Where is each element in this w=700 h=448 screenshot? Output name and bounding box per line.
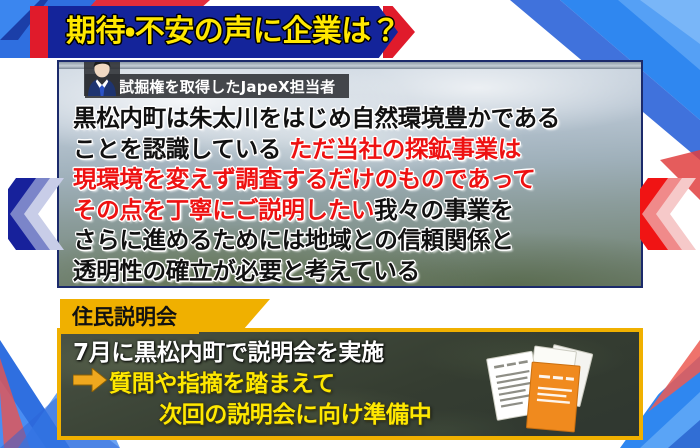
header-banner: 期待・不安の声に企業は？: [0, 6, 700, 58]
page-title: 期待・不安の声に企業は？: [66, 13, 396, 53]
section-tab-label: 住民説明会: [72, 305, 177, 329]
broadcast-graphic-stage: 期待・不安の声に企業は？ 試掘権を取得したJapeX担当者 黒松内町は朱太川をは…: [0, 0, 700, 448]
triple-chevron-left-blue-icon: [8, 178, 64, 250]
speaker-name-bar: 試掘権を取得したJapeX担当者: [85, 74, 349, 98]
quote-segment: ことを認識している: [73, 135, 289, 163]
quote-panel: 試掘権を取得したJapeX担当者 黒松内町は朱太川をはじめ自然環境豊かである こ…: [57, 60, 643, 288]
quote-text-block: 黒松内町は朱太川をはじめ自然環境豊かである ことを認識している ただ当社の探鉱事…: [73, 103, 631, 286]
quote-line: 透明性の確立が必要と考えている: [73, 256, 631, 287]
quote-segment: 透明性の確立が必要と考えている: [73, 257, 420, 285]
quote-segment: 我々の事業を: [374, 196, 513, 224]
quote-line: その点を丁寧にご説明したい我々の事業を: [73, 195, 631, 226]
summary-panel: 7月に黒松内町で説明会を実施 質問や指摘を踏まえて 次回の説明会に向け準備中: [57, 328, 643, 440]
speaker-label: 試掘権を取得したJapeX担当者: [119, 76, 335, 97]
right-arrow-icon: [73, 368, 107, 392]
panel-top-strip: [59, 62, 641, 69]
quote-segment-highlight: ただ当社の探鉱事業は: [289, 135, 521, 163]
triple-chevron-left-red-icon: [640, 178, 696, 250]
quote-line: 黒松内町は朱太川をはじめ自然環境豊かである: [73, 103, 631, 134]
person-suit-icon: [84, 60, 120, 96]
quote-line: 現環境を変えず調査するだけのものであって: [73, 164, 631, 195]
quote-line: さらに進めるためには地域との信頼関係と: [73, 225, 631, 256]
quote-segment: 黒松内町は朱太川をはじめ自然環境豊かである: [73, 104, 560, 132]
quote-line: ことを認識している ただ当社の探鉱事業は: [73, 134, 631, 165]
section-tab: 住民説明会: [60, 299, 199, 334]
quote-segment: さらに進めるためには地域との信頼関係と: [73, 226, 514, 254]
quote-segment-highlight: その点を丁寧にご説明したい: [73, 196, 374, 224]
quote-segment-highlight: 現環境を変えず調査するだけのものであって: [73, 165, 536, 193]
stacked-documents-icon: [471, 340, 621, 438]
